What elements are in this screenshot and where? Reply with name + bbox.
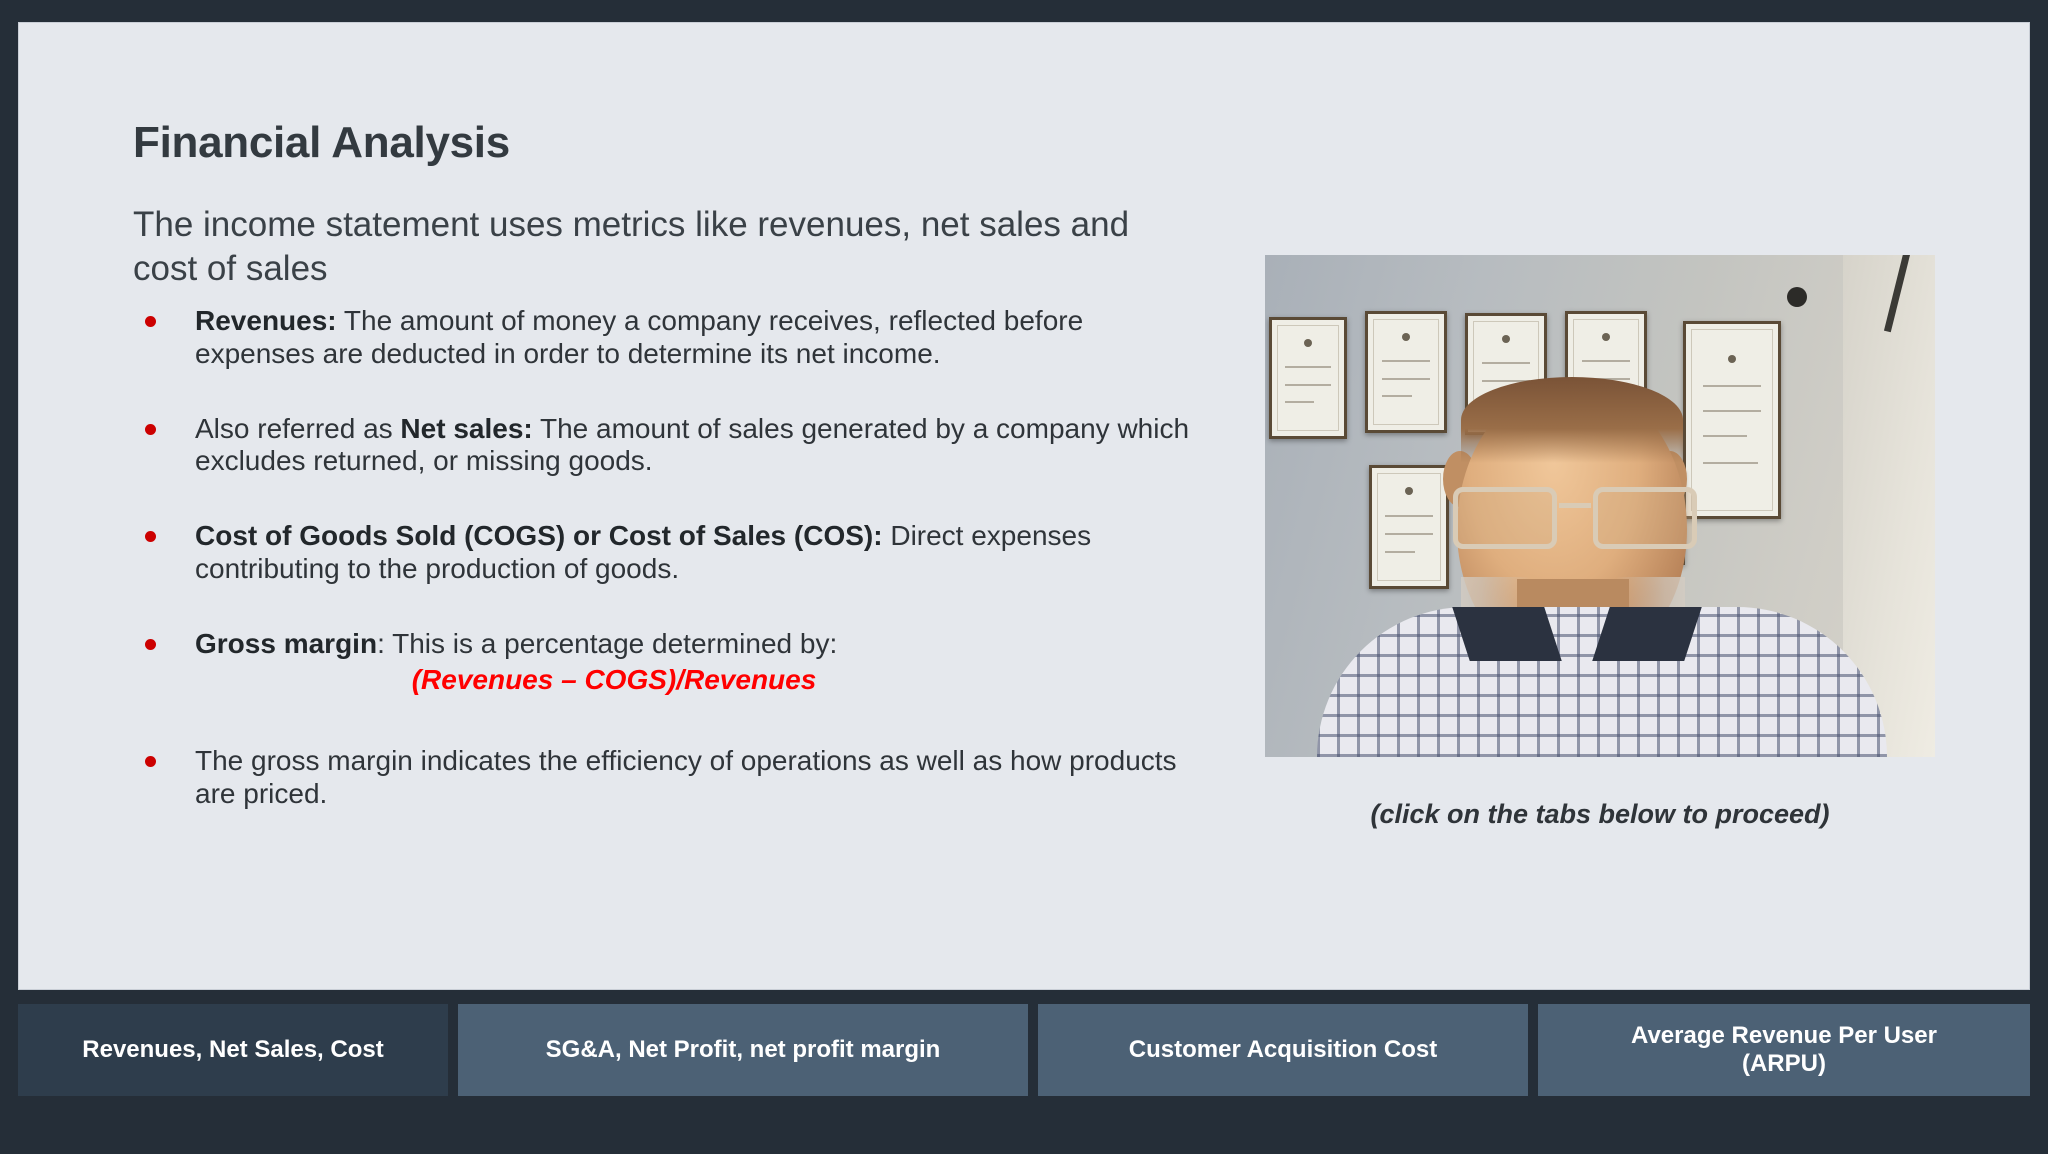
proceed-hint: (click on the tabs below to proceed) — [1265, 799, 1935, 830]
gross-margin-formula: (Revenues – COGS)/Revenues — [195, 664, 1193, 697]
list-item: Revenues: The amount of money a company … — [133, 305, 1193, 371]
bullet-list: Revenues: The amount of money a company … — [133, 305, 1193, 837]
presenter-hair — [1461, 377, 1683, 463]
tab-revenues-net-sales-cost[interactable]: Revenues, Net Sales, Cost — [18, 1004, 448, 1096]
bullet-dot-icon — [145, 316, 156, 327]
presenter-collar — [1592, 607, 1702, 661]
list-item: Also referred as Net sales: The amount o… — [133, 413, 1193, 479]
list-item: Gross margin: This is a percentage deter… — [133, 628, 1193, 698]
presentation-window: Financial Analysis The income statement … — [0, 0, 2048, 1154]
certificate-frame — [1365, 311, 1447, 433]
bullet-dot-icon — [145, 531, 156, 542]
bullet-dot-icon — [145, 639, 156, 650]
tab-sga-net-profit[interactable]: SG&A, Net Profit, net profit margin — [458, 1004, 1028, 1096]
certificate-frame — [1369, 465, 1449, 589]
bullet-dot-icon — [145, 424, 156, 435]
tab-average-revenue-per-user[interactable]: Average Revenue Per User (ARPU) — [1538, 1004, 2030, 1096]
page-title: Financial Analysis — [133, 119, 510, 167]
certificate-frame — [1269, 317, 1347, 439]
bullet-lead: Revenues: — [195, 305, 337, 336]
bullet-lead: Cost of Goods Sold (COGS) or Cost of Sal… — [195, 520, 883, 551]
bullet-lead: Net sales: — [400, 413, 532, 444]
bullet-dot-icon — [145, 756, 156, 767]
list-item: Cost of Goods Sold (COGS) or Cost of Sal… — [133, 520, 1193, 586]
presenter-webcam-video[interactable] — [1265, 255, 1935, 757]
slide-panel: Financial Analysis The income statement … — [18, 22, 2030, 990]
bullet-lead: Gross margin — [195, 628, 377, 659]
slide-subtitle: The income statement uses metrics like r… — [133, 203, 1193, 291]
list-item: The gross margin indicates the efficienc… — [133, 745, 1193, 811]
presenter-collar — [1452, 607, 1562, 661]
tab-bar: Revenues, Net Sales, Cost SG&A, Net Prof… — [18, 1004, 2030, 1096]
bullet-text: : This is a percentage determined by: — [377, 628, 837, 659]
bullet-text: The gross margin indicates the efficienc… — [195, 745, 1177, 809]
bullet-prefix: Also referred as — [195, 413, 400, 444]
tab-customer-acquisition-cost[interactable]: Customer Acquisition Cost — [1038, 1004, 1528, 1096]
curtain-rod-knob — [1787, 287, 1807, 307]
presenter-glasses — [1451, 487, 1699, 549]
